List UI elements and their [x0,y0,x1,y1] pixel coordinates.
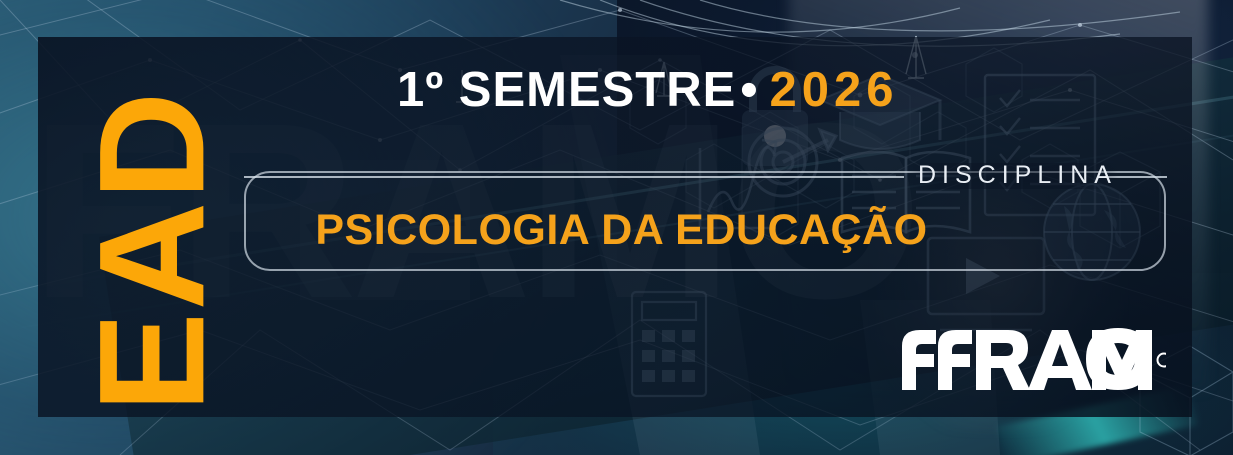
ead-course-banner: FRAMO EAD 1º SEMESTRE•2026 DISCIPLINA PS… [0,0,1233,455]
frame-rule-left [244,176,904,178]
semester-prefix-text: 1º SEMESTRE [397,63,736,117]
semester-year-text: 2026 [762,63,898,117]
semester-heading: 1º SEMESTRE•2026 [397,66,898,115]
fframo-logo-o-letter [1082,328,1162,390]
banner-content-layer: EAD 1º SEMESTRE•2026 DISCIPLINA PSICOLOG… [0,0,1233,455]
disciplina-label: DISCIPLINA [918,163,1117,188]
course-title: PSICOLOGIA DA EDUCAÇÃO [0,209,1233,252]
semester-separator-dot: • [736,63,762,117]
